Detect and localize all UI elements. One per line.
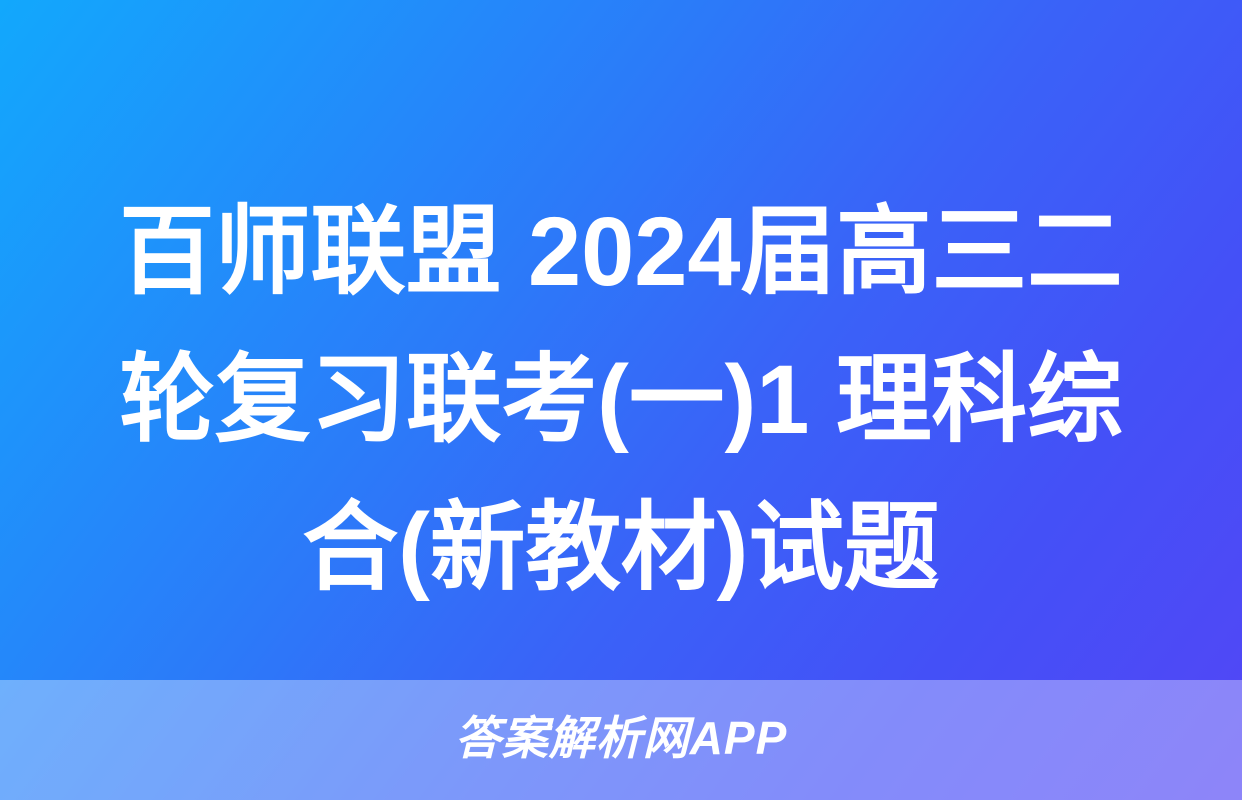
page-title-line-1: 百师联盟 2024届高三二 bbox=[68, 178, 1173, 326]
page-title: 百师联盟 2024届高三二 轮复习联考(一)1 理科综 合(新教材)试题 bbox=[60, 178, 1182, 622]
watermark-band: 答案解析网APP bbox=[0, 680, 1242, 800]
watermark-label: 答案解析网APP bbox=[455, 715, 788, 761]
page-title-line-2: 轮复习联考(一)1 理科综 bbox=[68, 326, 1173, 474]
page-title-line-3: 合(新教材)试题 bbox=[68, 474, 1173, 622]
exam-paper-cover-card: 百师联盟 2024届高三二 轮复习联考(一)1 理科综 合(新教材)试题 答案解… bbox=[0, 0, 1242, 800]
